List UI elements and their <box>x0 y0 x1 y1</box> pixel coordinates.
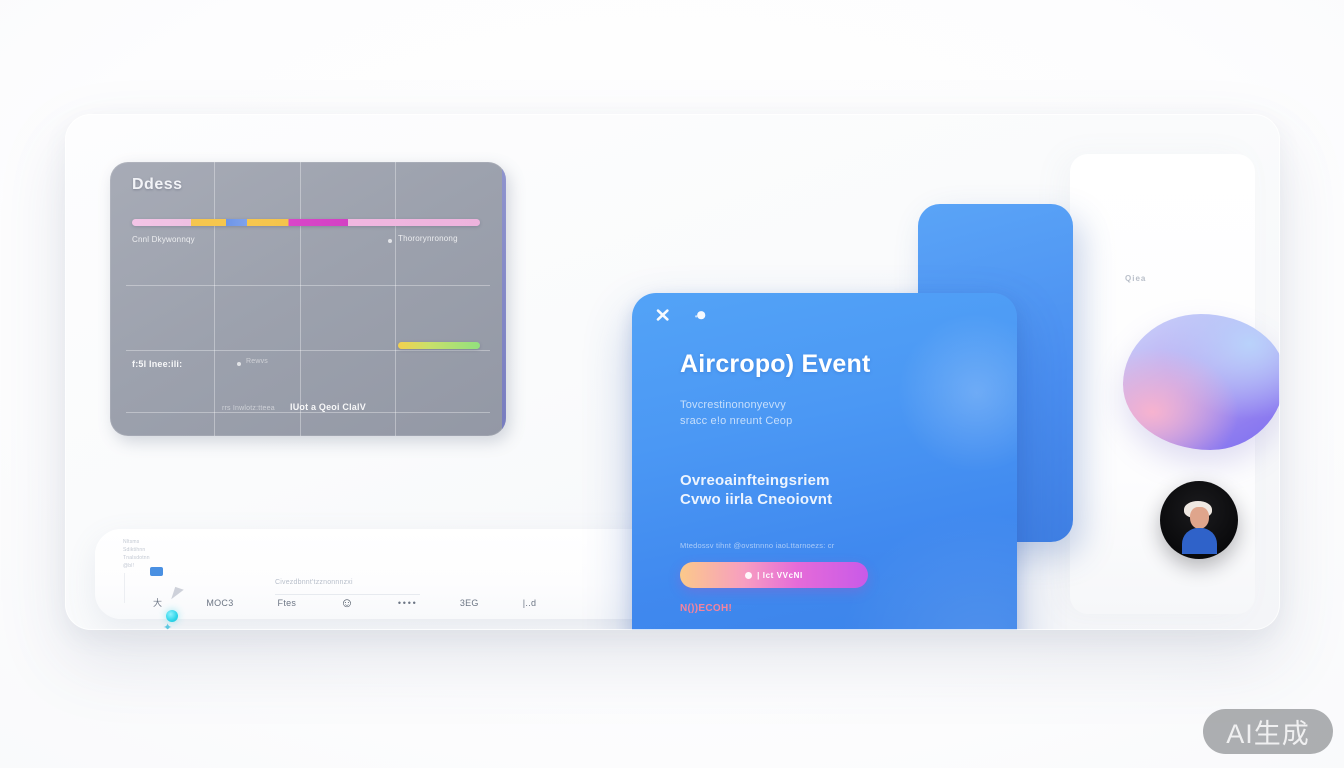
ai-generated-watermark: AI生成 <box>1203 709 1333 754</box>
gradient-blob <box>1123 314 1280 450</box>
composer-chip-icon <box>150 567 163 576</box>
grid-line-v <box>300 162 301 436</box>
composer-mini-line: @bl! <box>123 563 150 569</box>
close-icon[interactable] <box>656 308 670 322</box>
row-bullet-icon <box>237 362 241 366</box>
tool-files[interactable]: Ftes <box>278 598 297 608</box>
composer-input-placeholder: Civezdbnnt'tzznonnnzxi <box>275 579 353 586</box>
row-bullet-icon <box>388 239 392 243</box>
composer-mini-line: Tnalsdotnn <box>123 555 150 561</box>
panel-accent-edge <box>502 168 506 430</box>
composer-mini-line: Sdiktihnn <box>123 547 150 553</box>
composer-divider <box>124 573 125 603</box>
tool-mocs[interactable]: MOC3 <box>206 598 233 608</box>
secondary-link[interactable]: N())ECOH! <box>680 603 732 614</box>
grid-line-h <box>126 412 490 413</box>
panel-row-label-4: Rewvs <box>246 358 268 365</box>
brand-logo-text: Qiea <box>1125 274 1146 283</box>
panel-title: Ddess <box>132 176 183 194</box>
card-note: Mtedossv tihnt @ovstnnno iaoLttarnoezs: … <box>680 541 834 550</box>
composer-mini-line: Nltsms <box>123 539 150 545</box>
grid-line-h <box>126 350 490 351</box>
card-section-heading: Ovreoainfteingsriem Cvwo iirla Cneoiovnt <box>680 471 832 509</box>
avatar-body <box>1182 528 1217 554</box>
tool-emoji-icon[interactable]: ☺ <box>340 595 354 610</box>
composer-input[interactable]: Civezdbnnt'tzznonnnzxi <box>275 571 420 595</box>
tool-text-size[interactable]: 大 <box>153 596 162 609</box>
card-header-icons <box>656 308 707 322</box>
dot-icon[interactable] <box>694 309 707 322</box>
panel-row-label-3: f:5l Inee:ili: <box>132 359 182 369</box>
panel-row-label-1: Cnnl Dkywonnqy <box>132 235 195 244</box>
composer-meta-lines: Nltsms Sdiktihnn Tnalsdotnn @bl! <box>123 539 150 569</box>
tool-attach[interactable]: 3EG <box>460 598 479 608</box>
grid-line-h <box>126 285 490 286</box>
card-subtitle: Tovcrestinononyevvy sracc e!o nreunt Ceo… <box>680 397 792 429</box>
panel-row-label-2: Thororynronong <box>398 234 458 243</box>
grid-line-v <box>395 162 396 436</box>
data-panel[interactable]: Ddess Cnnl Dkywonnqy Thororynronong f:5l… <box>110 162 506 436</box>
progress-bar-green <box>398 342 480 349</box>
sparkle-icon: ✦ <box>163 623 172 630</box>
app-window: Ddess Cnnl Dkywonnqy Thororynronong f:5l… <box>65 114 1280 630</box>
cta-dot-icon <box>745 572 752 579</box>
screenshot-root: Ddess Cnnl Dkywonnqy Thororynronong f:5l… <box>0 0 1344 768</box>
panel-row-label-5: rrs Inwlotz:tteea <box>222 405 275 412</box>
user-avatar[interactable] <box>1160 481 1238 559</box>
tool-grid-icon[interactable]: • • • • <box>398 598 416 608</box>
progress-bar-multicolor <box>132 219 480 226</box>
grid-line-v <box>214 162 215 436</box>
card-glow <box>897 313 1017 473</box>
cta-label: | Ict VVcNI <box>757 571 803 580</box>
tool-more[interactable]: |..d <box>523 598 537 608</box>
primary-cta-button[interactable]: | Ict VVcNI <box>680 562 868 588</box>
watermark-label: AI生成 <box>1226 712 1310 751</box>
panel-row-label-6: IUot a Qeoi ClalV <box>290 402 366 412</box>
card-title: Aircropo) Event <box>680 350 871 379</box>
event-card[interactable]: Aircropo) Event Tovcrestinononyevvy srac… <box>632 293 1017 630</box>
avatar-face <box>1190 507 1209 529</box>
accent-dot-cyan-small <box>166 610 178 622</box>
